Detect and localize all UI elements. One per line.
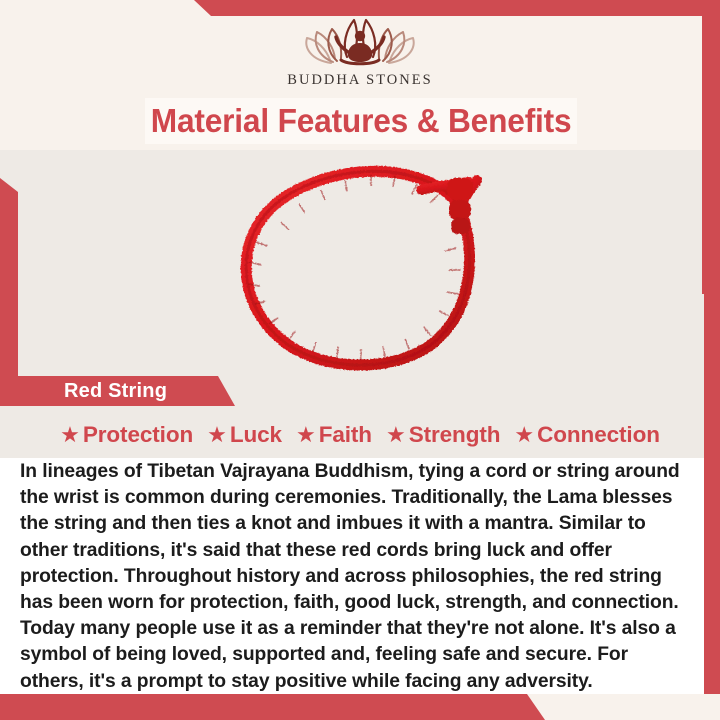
star-icon: ★ [207,424,227,446]
lotus-meditation-icon [301,16,419,70]
product-image [225,152,505,377]
material-banner-label: Red String [64,380,167,403]
description-text: In lineages of Tibetan Vajrayana Buddhis… [20,458,688,694]
decor-bar-left [0,178,18,378]
benefit-label: Strength [409,422,501,448]
star-icon: ★ [296,424,316,446]
material-banner: Red String [0,376,235,406]
page-title-text: Material Features & Benefits [151,102,572,140]
decor-bar-bottom [0,694,560,720]
benefit-item: ★ Protection [60,422,193,448]
brand-logo: BUDDHA STONES [0,16,720,96]
infographic-page: BUDDHA STONES Material Features & Benefi… [0,0,720,720]
decor-bar-right-lower [704,294,720,694]
benefit-item: ★ Luck [207,422,282,448]
brand-name: BUDDHA STONES [287,72,432,89]
benefit-item: ★ Connection [514,422,659,448]
benefit-item: ★ Strength [386,422,500,448]
benefits-list: ★ Protection ★ Luck ★ Faith ★ Strength ★… [18,418,702,452]
benefit-item: ★ Faith [296,422,372,448]
benefit-label: Faith [319,422,372,448]
benefit-label: Protection [83,422,193,448]
star-icon: ★ [386,424,406,446]
star-icon: ★ [514,424,534,446]
benefit-label: Connection [537,422,660,448]
star-icon: ★ [60,424,80,446]
page-title: Material Features & Benefits [145,98,577,144]
benefit-label: Luck [230,422,282,448]
